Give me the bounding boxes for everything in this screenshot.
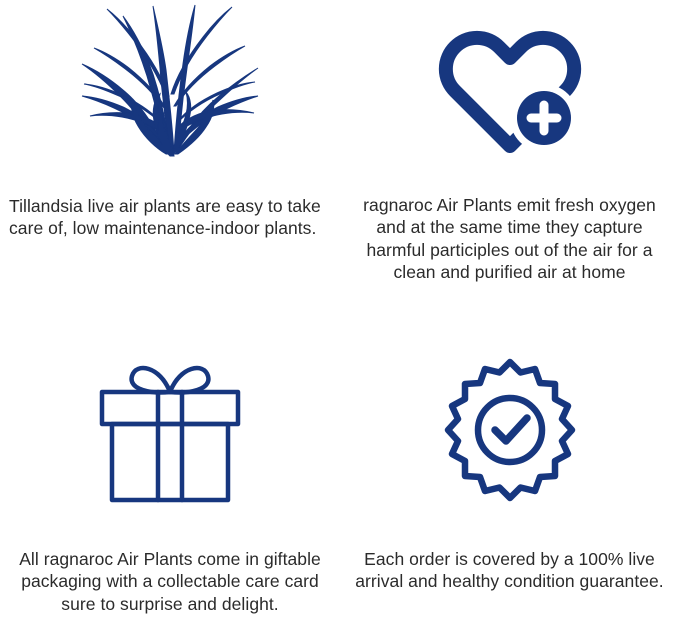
- feature-caption-giftable-packaging: All ragnaroc Air Plants come in giftable…: [10, 548, 330, 615]
- feature-caption-live-arrival-guarantee: Each order is covered by a 100% live arr…: [349, 548, 671, 593]
- feature-grid: Tillandsia live air plants are easy to t…: [0, 0, 679, 617]
- heart-plus-icon: [439, 14, 581, 154]
- feature-caption-easy-care: Tillandsia live air plants are easy to t…: [5, 195, 335, 240]
- air-plant-icon: [82, 4, 258, 156]
- feature-caption-fresh-oxygen: ragnaroc Air Plants emit fresh oxygen an…: [349, 194, 671, 284]
- feature-cell-live-arrival-guarantee: Each order is covered by a 100% live arr…: [340, 308, 679, 617]
- gift-box-icon: [94, 358, 246, 504]
- feature-cell-giftable-packaging: All ragnaroc Air Plants come in giftable…: [0, 308, 340, 617]
- feature-cell-easy-care: Tillandsia live air plants are easy to t…: [0, 0, 340, 308]
- guarantee-badge-icon: [442, 358, 578, 500]
- feature-cell-fresh-oxygen: ragnaroc Air Plants emit fresh oxygen an…: [340, 0, 679, 308]
